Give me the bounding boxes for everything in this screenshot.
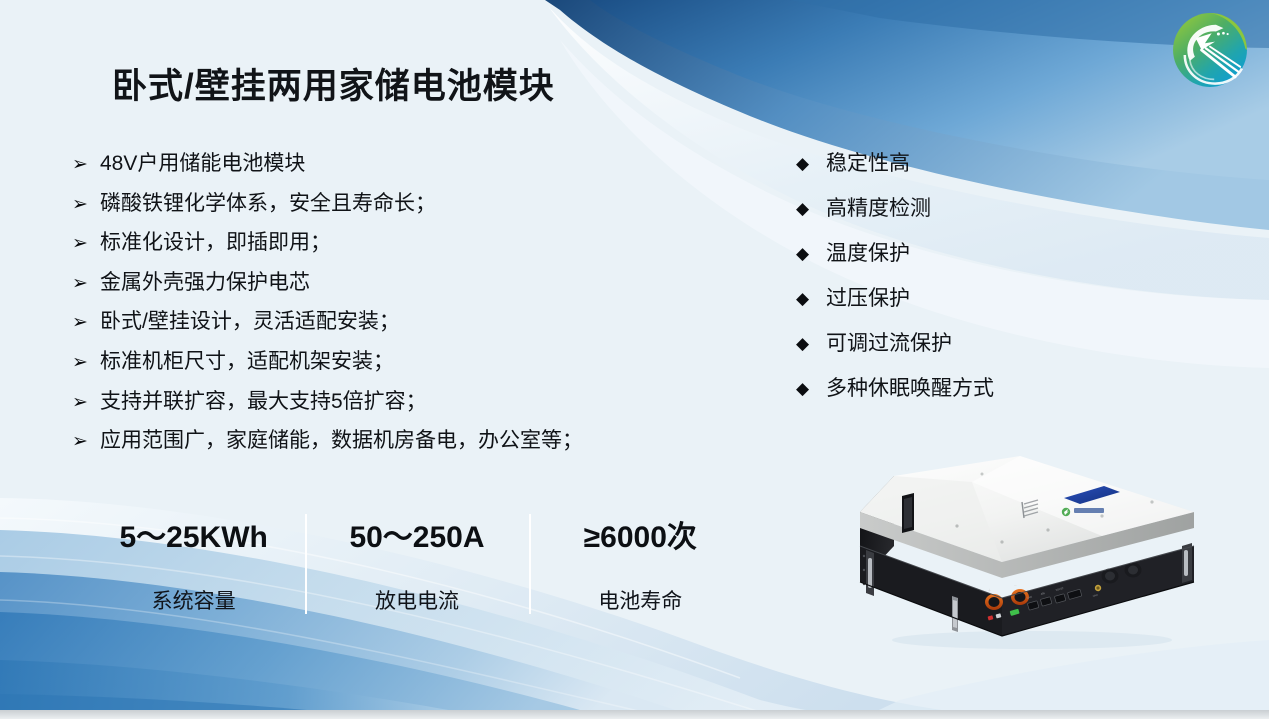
list-item-label: 过压保护: [826, 287, 1096, 310]
list-item: ◆ 稳定性高: [796, 152, 1096, 175]
diamond-bullet-icon: ◆: [796, 287, 826, 308]
features-left-column: ➢ 48V户用储能电池模块 ➢ 磷酸铁锂化学体系，安全且寿命长； ➢ 标准化设计…: [72, 152, 732, 469]
arrow-bullet-icon: ➢: [72, 231, 100, 253]
arrow-bullet-icon: ➢: [72, 350, 100, 372]
list-item: ◆ 可调过流保护: [796, 332, 1096, 355]
slide-canvas: 卧式/壁挂两用家储电池模块 ➢ 48V户用储能电池模块 ➢ 磷酸铁锂化学体系，安…: [0, 0, 1269, 719]
arrow-bullet-icon: ➢: [72, 310, 100, 332]
stat-label: 放电电流: [305, 585, 528, 615]
list-item: ➢ 应用范围广，家庭储能，数据机房备电，办公室等；: [72, 429, 732, 452]
list-item: ➢ 卧式/壁挂设计，灵活适配安装；: [72, 310, 732, 333]
list-item-label: 标准化设计，即插即用；: [100, 231, 732, 254]
list-item: ◆ 多种休眠唤醒方式: [796, 377, 1096, 400]
stat-item-capacity: 5～25KWh 系统容量: [82, 512, 305, 618]
list-item-label: 磷酸铁锂化学体系，安全且寿命长；: [100, 192, 732, 215]
stat-value: 50～250A: [305, 512, 528, 556]
svg-text:−: −: [1014, 583, 1017, 589]
page-title: 卧式/壁挂两用家储电池模块: [112, 58, 555, 109]
arrow-bullet-icon: ➢: [72, 152, 100, 174]
list-item: ➢ 磷酸铁锂化学体系，安全且寿命长；: [72, 192, 732, 215]
arrow-bullet-icon: ➢: [72, 390, 100, 412]
stat-value: ≥6000次: [529, 512, 752, 556]
leaf-bird-logo-icon: [1168, 8, 1252, 92]
stat-label: 系统容量: [82, 585, 305, 615]
stat-value: 5～25KWh: [82, 512, 305, 556]
arrow-bullet-icon: ➢: [72, 192, 100, 214]
diamond-bullet-icon: ◆: [796, 332, 826, 353]
spec-stats-row: 5～25KWh 系统容量 50～250A 放电电流 ≥6000次 电池寿命: [82, 512, 752, 618]
list-item-label: 标准机柜尺寸，适配机架安装；: [100, 350, 732, 373]
diamond-bullet-icon: ◆: [796, 377, 826, 398]
list-item: ◆ 高精度检测: [796, 197, 1096, 220]
diamond-bullet-icon: ◆: [796, 242, 826, 263]
list-item-label: 应用范围广，家庭储能，数据机房备电，办公室等；: [100, 429, 732, 452]
rack-battery-module-illustration: + −: [852, 450, 1202, 650]
product-photo: + −: [852, 450, 1202, 650]
features-right-column: ◆ 稳定性高 ◆ 高精度检测 ◆ 温度保护 ◆ 过压保护 ◆ 可调过流保护 ◆ …: [796, 152, 1096, 423]
list-item-label: 高精度检测: [826, 197, 1096, 220]
list-item: ◆ 温度保护: [796, 242, 1096, 265]
list-item: ➢ 48V户用储能电池模块: [72, 152, 732, 175]
list-item-label: 卧式/壁挂设计，灵活适配安装；: [100, 310, 732, 333]
diamond-bullet-icon: ◆: [796, 197, 826, 218]
stat-label: 电池寿命: [529, 585, 752, 615]
list-item-label: 48V户用储能电池模块: [100, 152, 732, 175]
stat-item-cycle-life: ≥6000次 电池寿命: [529, 512, 752, 618]
list-item-label: 多种休眠唤醒方式: [826, 377, 1096, 400]
list-item-label: 稳定性高: [826, 152, 1096, 175]
list-item: ➢ 支持并联扩容，最大支持5倍扩容；: [72, 390, 732, 413]
arrow-bullet-icon: ➢: [72, 429, 100, 451]
list-item: ➢ 金属外壳强力保护电芯: [72, 271, 732, 294]
list-item: ➢ 标准化设计，即插即用；: [72, 231, 732, 254]
list-item: ◆ 过压保护: [796, 287, 1096, 310]
diamond-bullet-icon: ◆: [796, 152, 826, 173]
list-item-label: 可调过流保护: [826, 332, 1096, 355]
arrow-bullet-icon: ➢: [72, 271, 100, 293]
list-item-label: 金属外壳强力保护电芯: [100, 271, 732, 294]
list-item-label: 温度保护: [826, 242, 1096, 265]
list-item: ➢ 标准机柜尺寸，适配机架安装；: [72, 350, 732, 373]
stat-item-current: 50～250A 放电电流: [305, 512, 528, 618]
company-logo: [1168, 8, 1252, 92]
list-item-label: 支持并联扩容，最大支持5倍扩容；: [100, 390, 732, 413]
